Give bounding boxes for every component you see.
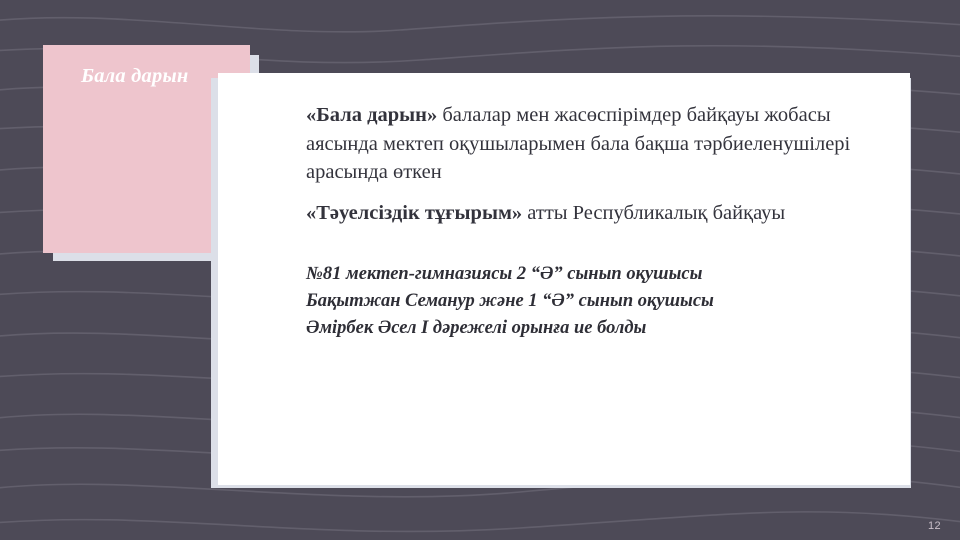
credit-line: №81 мектеп-гимназиясы 2 “Ә” сынып оқушыс… xyxy=(306,261,886,288)
credit-line: Бақытжан Семанур және 1 “Ә” сынып оқушыс… xyxy=(306,288,886,315)
content-body: «Бала дарын» балалар мен жасөспірімдер б… xyxy=(306,101,886,342)
credit-line: Әмірбек Әсел I дәрежелі орынға ие болды xyxy=(306,315,886,342)
paragraph-2: «Тәуелсіздік тұғырым» атты Республикалық… xyxy=(306,199,886,228)
paragraph-1: «Бала дарын» балалар мен жасөспірімдер б… xyxy=(306,101,886,187)
paragraph-2-rest: атты Республикалық байқауы xyxy=(522,202,785,224)
credit-block: №81 мектеп-гимназиясы 2 “Ә” сынып оқушыс… xyxy=(306,261,886,342)
content-panel: «Бала дарын» балалар мен жасөспірімдер б… xyxy=(218,73,910,485)
page-number: 12 xyxy=(928,520,941,532)
paragraph-1-lead: «Бала дарын» xyxy=(306,104,437,126)
presentation-slide: Бала дарын «Бала дарын» балалар мен жасө… xyxy=(0,0,960,540)
paragraph-2-lead: «Тәуелсіздік тұғырым» xyxy=(306,202,522,224)
